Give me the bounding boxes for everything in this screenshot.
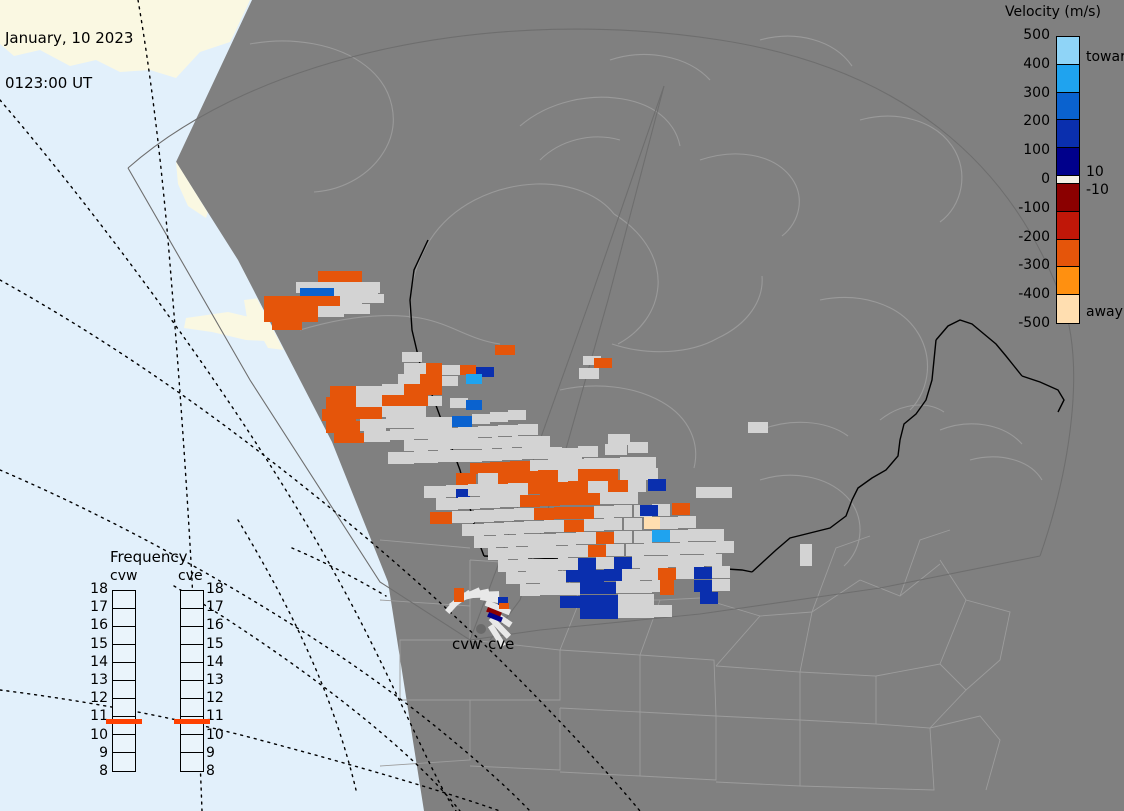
colorbar-band-250 [1057,93,1079,121]
velocity-cell [508,483,528,495]
velocity-cell [546,571,566,583]
velocity-cell [436,428,458,439]
velocity-cell [604,518,622,530]
frequency-tick-right-16: 16 [206,617,224,633]
velocity-cell [326,397,356,409]
velocity-cell [588,545,606,557]
velocity-cell [504,522,524,534]
velocity-cell [490,412,508,422]
velocity-cell [512,436,532,447]
velocity-cell [628,480,646,492]
velocity-cell [478,426,498,437]
velocity-cell [522,447,542,459]
velocity-cell [398,374,420,385]
velocity-cell [492,437,512,448]
velocity-cell [330,386,356,397]
frequency-tick-left-18: 18 [84,581,108,597]
velocity-cell [716,541,734,553]
velocity-cell [386,417,410,428]
velocity-cell [600,607,618,619]
velocity-cell [542,447,562,459]
velocity-cell [548,482,568,494]
velocity-cell [406,395,428,406]
velocity-cell [636,606,654,618]
colorbar-band-450 [1057,37,1079,65]
velocity-cell [618,606,636,618]
velocity-cell [698,542,716,554]
colorbar-swatches[interactable] [1056,36,1080,324]
velocity-cell [688,529,706,541]
colorbar-title: Velocity (m/s) [1005,4,1101,20]
velocity-cell [502,448,522,460]
superdarn-fan-plot: January, 10 2023 0123:00 UT Velocity (m/… [0,0,1124,811]
velocity-cell [680,542,698,554]
frequency-marker-cvw [106,719,142,724]
velocity-cell [478,473,498,485]
velocity-cell [520,584,540,596]
colorbar-band-150 [1057,120,1079,148]
velocity-cell [518,559,538,571]
velocity-cell [458,427,478,438]
frequency-column-label-cve: cve [178,568,203,584]
frequency-segment [181,591,203,609]
velocity-cell [594,506,614,518]
velocity-cell [426,363,442,374]
velocity-cell [704,554,722,566]
velocity-cell [514,508,534,520]
velocity-cell [580,595,600,607]
velocity-cell [614,557,632,569]
frequency-tick-right-12: 12 [206,690,224,706]
map-canvas [0,0,1124,811]
frequency-tick-left-13: 13 [84,672,108,688]
velocity-cell [334,433,364,443]
velocity-cell [264,309,318,322]
frequency-segment [113,663,135,681]
velocity-cell [540,583,560,595]
velocity-cell [606,544,624,556]
velocity-cell [558,470,578,482]
velocity-cell [644,517,662,529]
velocity-cell [648,479,666,491]
velocity-cell [660,575,674,595]
colorbar-band--350 [1057,267,1079,295]
frequency-segment [181,735,203,753]
velocity-cell [576,532,596,544]
velocity-cell [580,607,600,619]
velocity-cell [538,559,558,571]
velocity-cell [618,594,636,606]
velocity-cell [322,409,356,421]
velocity-cell [390,429,414,440]
velocity-cell [548,546,568,558]
frequency-tick-right-9: 9 [206,745,215,761]
velocity-cell [442,365,460,375]
velocity-cell [430,512,452,524]
velocity-cell [706,529,724,541]
velocity-cell [494,509,514,521]
colorbar-tick--100: -100 [1010,200,1050,216]
velocity-cell [712,579,730,591]
velocity-cell [382,406,406,417]
velocity-cell [499,603,509,609]
colorbar-tick--200: -200 [1010,229,1050,245]
frequency-tick-right-14: 14 [206,654,224,670]
velocity-cell [800,544,812,566]
velocity-cell [484,523,504,535]
title-time: 0123:00 UT [5,76,133,91]
velocity-cell [406,406,426,417]
frequency-segment [181,681,203,699]
velocity-cell [474,510,494,522]
frequency-segment [113,681,135,699]
velocity-cell [404,440,428,451]
frequency-bar-cvw[interactable] [112,590,136,772]
velocity-cell [602,458,620,469]
colorbar-tick-400: 400 [1010,56,1050,72]
velocity-cell [454,588,464,602]
velocity-cell [508,410,526,420]
frequency-title: Frequency [110,548,188,566]
velocity-cell [414,428,436,439]
velocity-cell [622,569,640,581]
velocity-cell [518,471,538,483]
frequency-tick-left-15: 15 [84,636,108,652]
velocity-cell [426,384,442,395]
velocity-cell [579,368,599,379]
velocity-cell [474,536,496,548]
velocity-cell [360,419,386,431]
velocity-cell [608,434,630,445]
velocity-cell [644,543,662,555]
frequency-segment [181,627,203,645]
frequency-segment [113,699,135,717]
velocity-cell [534,508,554,520]
frequency-segment [181,753,203,771]
velocity-cell [466,400,482,410]
velocity-cell [668,555,686,567]
frequency-tick-left-17: 17 [84,599,108,615]
velocity-cell [636,594,654,606]
frequency-segment [113,627,135,645]
velocity-cell [488,548,508,560]
velocity-cell [634,531,652,543]
velocity-cell [460,365,476,375]
velocity-cell [600,492,620,504]
velocity-cell [438,450,460,462]
frequency-segment [181,699,203,717]
velocity-cell [672,503,690,515]
velocity-cell [638,457,656,468]
colorbar-band-350 [1057,65,1079,93]
velocity-cell [356,386,382,397]
velocity-cell [558,558,578,570]
frequency-tick-left-11: 11 [84,708,108,724]
velocity-cell [620,457,638,468]
frequency-tick-right-8: 8 [206,763,215,779]
colorbar-band--50 [1057,184,1079,212]
velocity-cell [348,290,378,300]
velocity-cell [556,533,576,545]
frequency-segment [181,663,203,681]
colorbar-tick-0: 0 [1010,171,1050,187]
frequency-bar-cve[interactable] [180,590,204,772]
velocity-cell [272,322,302,330]
velocity-cell [614,531,632,543]
velocity-cell [566,570,586,582]
velocity-cell [650,556,668,568]
velocity-cell [404,384,426,395]
velocity-cell [540,494,560,506]
colorbar-tick--400: -400 [1010,286,1050,302]
velocity-cell [466,374,482,384]
velocity-cell [382,384,404,395]
velocity-cell [652,530,670,542]
velocity-cell [596,557,614,569]
velocity-cell [508,547,528,559]
velocity-cell [528,482,548,494]
velocity-cell [462,524,484,536]
velocity-cell [560,493,580,505]
velocity-cell [616,581,634,593]
velocity-cell [382,395,406,406]
velocity-cell [624,518,642,530]
velocity-cell [482,449,502,461]
colorbar-tick--300: -300 [1010,257,1050,273]
velocity-cell [450,398,468,408]
velocity-cell [640,568,658,580]
velocity-cell [626,544,644,556]
colorbar-toward-label: toward [1086,49,1124,65]
velocity-cell [605,444,627,455]
velocity-cell [578,558,596,570]
velocity-cell [490,462,510,473]
colorbar-band--250 [1057,240,1079,268]
velocity-cell [364,431,390,442]
velocity-cell [356,396,382,407]
frequency-segment [113,645,135,663]
velocity-cell [604,569,622,581]
velocity-cell [598,582,616,594]
velocity-cell [518,424,538,435]
velocity-cell [442,376,458,386]
velocity-cell [488,484,508,496]
site-label-cvw: cvw [452,635,481,653]
velocity-cell [620,492,638,504]
frequency-column-label-cvw: cvw [110,568,137,584]
frequency-segment [113,735,135,753]
frequency-marker-cve [174,719,210,724]
velocity-cell [574,507,594,519]
velocity-cell [548,459,566,470]
velocity-cell [452,416,472,427]
velocity-cell [436,498,458,510]
velocity-cell [628,442,648,453]
velocity-cell [432,417,452,428]
velocity-cell [694,580,712,592]
velocity-cell [660,517,678,529]
velocity-cell [700,592,718,604]
velocity-cell [538,470,558,482]
velocity-cell [640,468,658,480]
frequency-tick-left-8: 8 [84,763,108,779]
velocity-cell [424,486,446,498]
velocity-cell [344,304,370,314]
velocity-cell [544,520,564,532]
colorbar-tick-300: 300 [1010,85,1050,101]
velocity-cell [578,469,598,481]
velocity-cell [588,481,608,493]
colorbar-tick--500: -500 [1010,315,1050,331]
velocity-cell [498,560,518,572]
velocity-cell [598,469,618,481]
velocity-cell [480,496,500,508]
velocity-cell [340,271,362,282]
velocity-cell [614,505,632,517]
frequency-tick-left-12: 12 [84,690,108,706]
velocity-cell [594,358,612,368]
velocity-cell [460,450,482,462]
velocity-cell [596,532,614,544]
frequency-tick-left-16: 16 [84,617,108,633]
velocity-cell [712,566,730,578]
velocity-cell [714,487,732,498]
velocity-cell [428,439,450,450]
colorbar-tick-200: 200 [1010,113,1050,129]
velocity-cell [578,446,598,457]
velocity-cell [676,567,694,579]
colorbar-band-50 [1057,148,1079,176]
velocity-cell [456,473,476,485]
frequency-segment [181,609,203,627]
velocity-cell [632,556,650,568]
frequency-tick-right-15: 15 [206,636,224,652]
velocity-cell [472,438,492,449]
frequency-tick-right-18: 18 [206,581,224,597]
velocity-cell [264,296,296,309]
velocity-cell [468,484,488,496]
velocity-cell [580,493,600,505]
plot-title: January, 10 2023 0123:00 UT [5,1,133,121]
velocity-cell [500,495,520,507]
velocity-cell [404,363,426,374]
velocity-cell [526,571,546,583]
colorbar-band--450 [1057,295,1079,323]
velocity-cell [566,459,584,470]
velocity-cell [520,495,540,507]
velocity-cell [450,438,472,449]
velocity-cell [470,463,490,474]
velocity-cell [748,422,768,433]
velocity-cell [318,271,340,282]
frequency-tick-left-10: 10 [84,727,108,743]
velocity-cell [584,519,604,531]
velocity-cell [584,458,602,469]
velocity-cell [506,572,526,584]
velocity-cell [498,472,518,484]
frequency-tick-right-10: 10 [206,727,224,743]
frequency-tick-left-14: 14 [84,654,108,670]
frequency-tick-left-9: 9 [84,745,108,761]
frequency-segment [113,753,135,771]
velocity-cell [662,543,680,555]
colorbar-inner-top-label: 10 [1086,164,1104,180]
velocity-cell [560,596,580,608]
velocity-cell [536,534,556,546]
velocity-cell [654,605,672,617]
velocity-cell [472,414,490,424]
velocity-cell [458,497,480,509]
colorbar-band--150 [1057,212,1079,240]
velocity-cell [560,583,580,595]
velocity-cell [388,452,414,464]
velocity-cell [580,582,598,594]
title-date: January, 10 2023 [5,31,133,46]
velocity-cell [564,520,584,532]
velocity-cell [686,555,704,567]
velocity-cell [496,535,516,547]
velocity-cell [318,306,344,317]
velocity-cell [428,396,442,406]
velocity-cell [414,451,438,463]
frequency-segment [113,609,135,627]
colorbar-tick-100: 100 [1010,142,1050,158]
velocity-cell [495,345,515,355]
velocity-cell [568,481,588,493]
radar-site-marker [476,624,486,634]
velocity-cell [524,521,544,533]
velocity-cell [600,595,618,607]
velocity-cell [568,545,588,557]
velocity-cell [420,374,442,385]
velocity-cell [356,407,382,419]
velocity-cell [402,352,422,362]
velocity-cell [640,505,658,516]
frequency-segment [181,645,203,663]
velocity-cell [516,534,536,546]
velocity-cell [670,530,688,542]
velocity-cell [608,480,628,492]
velocity-cell [694,567,712,579]
velocity-cell [634,581,652,593]
colorbar-inner-bottom-label: -10 [1086,182,1109,198]
velocity-cell [326,421,360,433]
velocity-cell [554,507,574,519]
frequency-segment [113,591,135,609]
colorbar-away-label: away [1086,304,1123,320]
site-label-cve: cve [488,635,514,653]
velocity-cell [678,516,696,528]
velocity-cell [620,468,640,480]
velocity-cell [586,570,604,582]
velocity-cell [410,417,432,428]
velocity-cell [510,461,530,472]
velocity-cell [452,511,474,523]
velocity-cell [530,460,548,471]
frequency-tick-right-17: 17 [206,599,224,615]
velocity-cell [528,546,548,558]
velocity-cell [498,425,518,436]
velocity-cell [696,487,714,498]
frequency-tick-right-13: 13 [206,672,224,688]
velocity-cell [532,436,550,447]
colorbar-tick-500: 500 [1010,27,1050,43]
colorbar-band-0 [1057,176,1079,184]
